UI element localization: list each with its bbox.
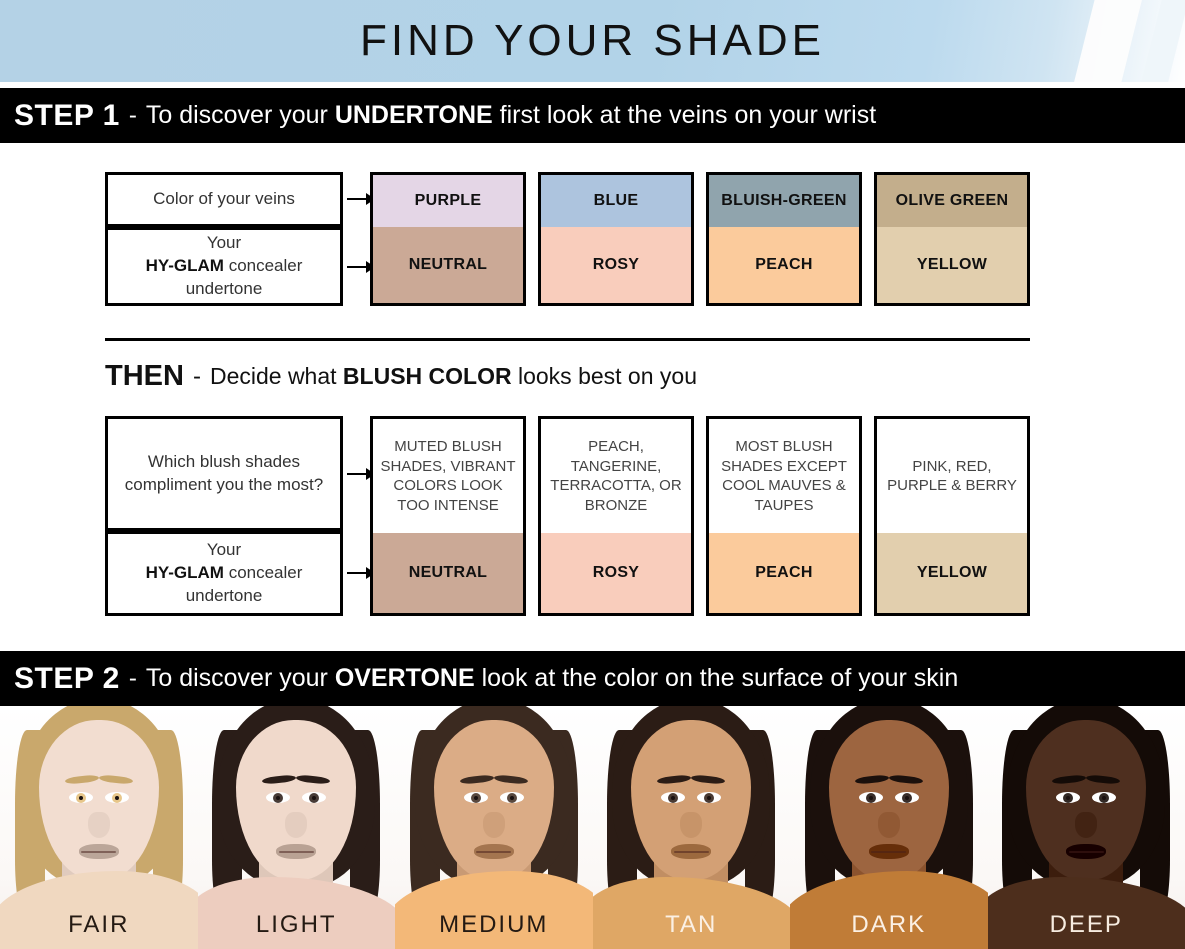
section-divider: [105, 338, 1030, 341]
vein-color-swatch: BLUE: [541, 175, 691, 227]
blush-result-line2-rest: concealer: [224, 563, 302, 582]
then-label: THEN: [105, 360, 184, 393]
step2-text-before: To discover your: [146, 664, 335, 692]
overtone-face-column: MEDIUM: [395, 706, 593, 949]
step1-label: STEP 1: [14, 99, 120, 133]
overtone-face-column: DARK: [790, 706, 988, 949]
nose: [680, 812, 702, 838]
blush-column-rosy: PEACH, TANGERINE, TERRACOTTA, OR BRONZE …: [538, 416, 694, 616]
lips: [276, 844, 316, 859]
blush-result-line2: HY-GLAM concealer: [146, 562, 303, 585]
blush-shades-cell: PINK, RED, PURPLE & BERRY: [877, 419, 1027, 533]
lips: [869, 844, 909, 859]
undertone-question-text: Color of your veins: [153, 188, 295, 211]
blush-shades-text: PEACH, TANGERINE, TERRACOTTA, OR BRONZE: [541, 437, 691, 515]
blush-question-cell: Which blush shades compliment you the mo…: [105, 416, 343, 531]
then-heading: THEN - Decide what BLUSH COLOR looks bes…: [105, 360, 697, 393]
eyebrow-left: [64, 774, 99, 785]
undertone-swatch: ROSY: [541, 227, 691, 303]
eyebrow-left: [854, 774, 889, 785]
vein-color-swatch: PURPLE: [373, 175, 523, 227]
eyebrow-right: [98, 774, 133, 785]
eyebrow-left: [1052, 774, 1087, 785]
lips: [474, 844, 514, 859]
step1-banner: STEP 1 - To discover your UNDERTONE firs…: [0, 88, 1185, 143]
overtone-face-column: DEEP: [988, 706, 1185, 949]
eyebrow-right: [1086, 774, 1121, 785]
step2-banner: STEP 2 - To discover your OVERTONE look …: [0, 651, 1185, 706]
undertone-swatch: YELLOW: [877, 227, 1027, 303]
undertone-label: NEUTRAL: [409, 564, 488, 582]
then-text-before: Decide what: [210, 363, 343, 389]
shade-name-label: TAN: [593, 911, 791, 939]
undertone-result-line2-rest: concealer: [224, 256, 302, 275]
brand-name: HY-GLAM: [146, 563, 224, 582]
lips: [671, 844, 711, 859]
blush-column-neutral: MUTED BLUSH SHADES, VIBRANT COLORS LOOK …: [370, 416, 526, 616]
blush-shades-cell: PEACH, TANGERINE, TERRACOTTA, OR BRONZE: [541, 419, 691, 533]
undertone-swatch: NEUTRAL: [373, 227, 523, 303]
shade-name-label: DEEP: [988, 911, 1185, 939]
step1-text-after: first look at the veins on your wrist: [493, 101, 876, 129]
undertone-column-olive-green: OLIVE GREEN YELLOW: [874, 172, 1030, 306]
eyebrow-right: [296, 774, 331, 785]
nose: [483, 812, 505, 838]
eye-right: [895, 792, 919, 803]
vein-color-swatch: OLIVE GREEN: [877, 175, 1027, 227]
vein-color-label: OLIVE GREEN: [896, 192, 1009, 210]
blush-question-text: Which blush shades compliment you the mo…: [116, 451, 332, 497]
shade-name-label: FAIR: [0, 911, 198, 939]
overtone-face-column: FAIR: [0, 706, 198, 949]
undertone-swatch: ROSY: [541, 533, 691, 613]
eye-left: [661, 792, 685, 803]
brand-name: HY-GLAM: [146, 256, 224, 275]
eyebrow-right: [493, 774, 528, 785]
undertone-label: YELLOW: [917, 256, 987, 274]
nose: [878, 812, 900, 838]
eyebrow-left: [459, 774, 494, 785]
blush-result-line3: undertone: [186, 585, 263, 608]
shade-name-label: MEDIUM: [395, 911, 593, 939]
step2-description: To discover your OVERTONE look at the co…: [146, 664, 958, 693]
undertone-swatch: YELLOW: [877, 533, 1027, 613]
page-title: FIND YOUR SHADE: [0, 0, 1185, 82]
overtone-face-column: TAN: [593, 706, 791, 949]
nose: [285, 812, 307, 838]
overtone-face-column: LIGHT: [198, 706, 396, 949]
blush-column-peach: MOST BLUSH SHADES EXCEPT COOL MAUVES & T…: [706, 416, 862, 616]
eye-right: [302, 792, 326, 803]
step2-text-after: look at the color on the surface of your…: [475, 664, 959, 692]
then-description: Decide what BLUSH COLOR looks best on yo…: [210, 363, 697, 390]
eye-right: [500, 792, 524, 803]
undertone-swatch: PEACH: [709, 533, 859, 613]
shade-name-label: LIGHT: [198, 911, 396, 939]
eye-right: [697, 792, 721, 803]
undertone-label: ROSY: [593, 564, 640, 582]
blush-column-yellow: PINK, RED, PURPLE & BERRY YELLOW: [874, 416, 1030, 616]
undertone-result-label-cell: Your HY-GLAM concealer undertone: [105, 227, 343, 306]
eye-left: [266, 792, 290, 803]
overtone-faces-strip: FAIRLIGHTMEDIUMTANDARKDEEP: [0, 706, 1185, 949]
shade-name-label: DARK: [790, 911, 988, 939]
eyebrow-right: [888, 774, 923, 785]
eye-right: [105, 792, 129, 803]
blush-shades-text: MOST BLUSH SHADES EXCEPT COOL MAUVES & T…: [709, 437, 859, 515]
blush-result-label-cell: Your HY-GLAM concealer undertone: [105, 531, 343, 616]
eye-right: [1092, 792, 1116, 803]
nose: [1075, 812, 1097, 838]
undertone-result-line1: Your: [207, 232, 241, 255]
blush-result-line1: Your: [207, 539, 241, 562]
find-your-shade-infographic: FIND YOUR SHADE STEP 1 - To discover you…: [0, 0, 1185, 949]
then-keyword: BLUSH COLOR: [343, 363, 512, 389]
step1-keyword: UNDERTONE: [335, 101, 493, 129]
undertone-result-line2: HY-GLAM concealer: [146, 255, 303, 278]
eyebrow-left: [262, 774, 297, 785]
then-text-after: looks best on you: [512, 363, 697, 389]
undertone-column-blue: BLUE ROSY: [538, 172, 694, 306]
undertone-label: PEACH: [755, 564, 813, 582]
undertone-swatch: NEUTRAL: [373, 533, 523, 613]
then-dash: -: [193, 363, 201, 391]
undertone-column-bluish-green: BLUISH-GREEN PEACH: [706, 172, 862, 306]
vein-color-label: BLUE: [594, 192, 639, 210]
step1-dash: -: [129, 102, 137, 130]
blush-shades-cell: MUTED BLUSH SHADES, VIBRANT COLORS LOOK …: [373, 419, 523, 533]
eye-left: [1056, 792, 1080, 803]
step1-text-before: To discover your: [146, 101, 335, 129]
undertone-question-cell: Color of your veins: [105, 172, 343, 227]
undertone-result-line3: undertone: [186, 278, 263, 301]
blush-shades-cell: MOST BLUSH SHADES EXCEPT COOL MAUVES & T…: [709, 419, 859, 533]
undertone-label: ROSY: [593, 256, 640, 274]
eye-left: [69, 792, 93, 803]
lips: [79, 844, 119, 859]
nose: [88, 812, 110, 838]
vein-color-label: BLUISH-GREEN: [721, 192, 846, 210]
lips: [1066, 844, 1106, 859]
step2-dash: -: [129, 665, 137, 693]
undertone-column-purple: PURPLE NEUTRAL: [370, 172, 526, 306]
blush-shades-text: PINK, RED, PURPLE & BERRY: [877, 457, 1027, 496]
undertone-label: YELLOW: [917, 564, 987, 582]
eye-left: [464, 792, 488, 803]
eyebrow-left: [657, 774, 692, 785]
undertone-label: PEACH: [755, 256, 813, 274]
eyebrow-right: [691, 774, 726, 785]
vein-color-label: PURPLE: [415, 192, 482, 210]
undertone-label: NEUTRAL: [409, 256, 488, 274]
step2-label: STEP 2: [14, 662, 120, 696]
step2-keyword: OVERTONE: [335, 664, 475, 692]
undertone-swatch: PEACH: [709, 227, 859, 303]
eye-left: [859, 792, 883, 803]
blush-shades-text: MUTED BLUSH SHADES, VIBRANT COLORS LOOK …: [373, 437, 523, 515]
header-banner: FIND YOUR SHADE: [0, 0, 1185, 82]
vein-color-swatch: BLUISH-GREEN: [709, 175, 859, 227]
step1-description: To discover your UNDERTONE first look at…: [146, 101, 876, 130]
